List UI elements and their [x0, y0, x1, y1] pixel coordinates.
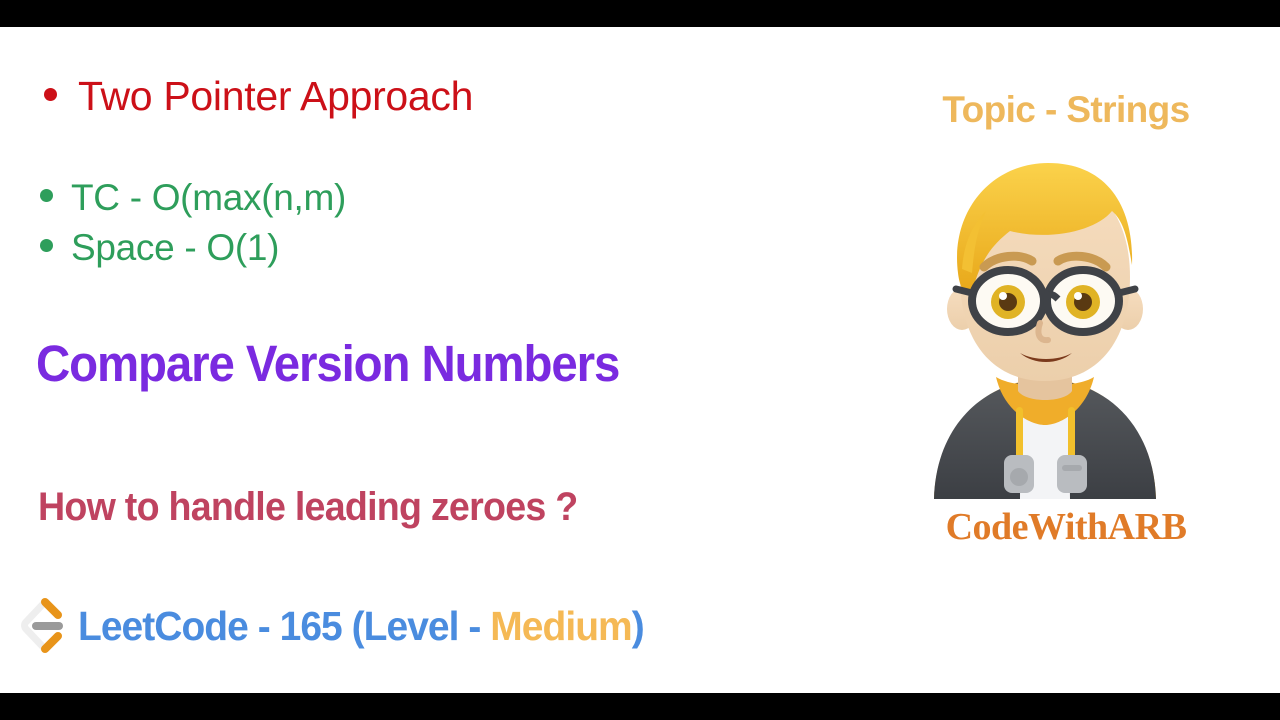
- right-branding-column: Topic - Strings: [855, 27, 1280, 693]
- slide-canvas: Two Pointer Approach TC - O(max(n,m) Spa…: [0, 27, 1280, 693]
- topic-label: Topic - Strings: [871, 89, 1261, 131]
- bullet-item-space-complexity: Space - O(1): [40, 227, 279, 269]
- leetcode-platform-text: LeetCode - 165 (Level -: [78, 603, 490, 649]
- letterbox-bottom: [0, 693, 1280, 720]
- channel-name: CodeWithARB: [871, 505, 1261, 549]
- bullet-dot-icon: [40, 189, 53, 202]
- problem-title: Compare Version Numbers: [36, 334, 619, 393]
- leetcode-level-value: Medium: [490, 603, 631, 649]
- bullet-dot-icon: [44, 88, 57, 101]
- left-content-column: Two Pointer Approach TC - O(max(n,m) Spa…: [0, 27, 860, 693]
- bullet-item-time-complexity: TC - O(max(n,m): [40, 177, 346, 219]
- bullet-dot-icon: [40, 239, 53, 252]
- leetcode-reference-row: LeetCode - 165 (Level - Medium): [14, 595, 674, 657]
- leetcode-paren-close: ): [632, 603, 644, 649]
- bullet-item-approach: Two Pointer Approach: [44, 73, 473, 120]
- leading-zeroes-question: How to handle leading zeroes ?: [38, 485, 577, 530]
- approach-label: Two Pointer Approach: [78, 73, 473, 120]
- leetcode-reference-label: LeetCode - 165 (Level - Medium): [78, 603, 644, 650]
- slide-root: Two Pointer Approach TC - O(max(n,m) Spa…: [0, 0, 1280, 720]
- time-complexity-label: TC - O(max(n,m): [71, 177, 346, 219]
- space-complexity-label: Space - O(1): [71, 227, 279, 269]
- memoji-avatar-icon: [900, 149, 1190, 499]
- letterbox-top: [0, 0, 1280, 27]
- leetcode-logo-icon: [14, 595, 72, 657]
